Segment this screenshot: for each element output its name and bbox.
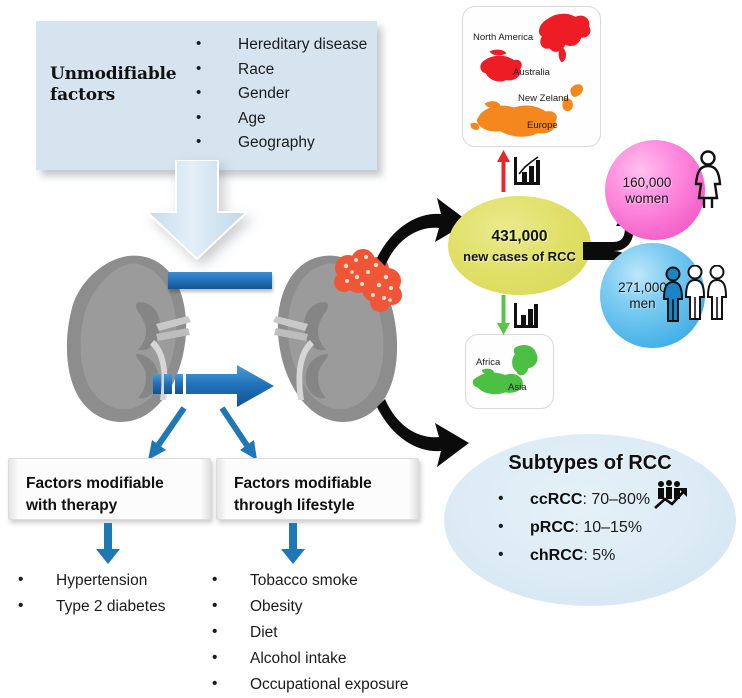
list-item: Occupational exposure	[212, 672, 409, 698]
bar-chart-icon	[513, 301, 539, 329]
unmodifiable-title-line1: Unmodifiable	[50, 64, 176, 84]
women-cases-number: 160,000	[623, 175, 672, 190]
list-item: Hereditary disease	[196, 33, 367, 58]
map-label: Australia	[513, 67, 550, 78]
subtype-sep: :	[583, 547, 592, 564]
blue-bar-icon	[168, 272, 272, 289]
list-item: pRCC: 10–15%	[498, 514, 650, 542]
people-trend-up-icon	[654, 480, 692, 510]
bar-chart-trend-up-icon	[513, 156, 541, 186]
map-label: Asia	[508, 382, 526, 393]
blue-diagonal-arrow-icon	[155, 408, 184, 450]
therapy-title-line2: with therapy	[26, 497, 117, 514]
subtype-name: pRCC	[530, 519, 574, 536]
list-item: ccRCC: 70–80%	[498, 486, 650, 514]
lifestyle-title-line2: through lifestyle	[234, 497, 355, 514]
incidence-increase-indicator	[496, 150, 541, 192]
therapy-box-title: Factors modifiablewith therapy	[26, 473, 198, 517]
map-label: New Zeland	[518, 93, 569, 104]
therapy-risk-list: Hypertension Type 2 diabetes	[18, 568, 165, 620]
down-arrow-icon	[280, 523, 306, 565]
lifestyle-title-line1: Factors modifiable	[234, 475, 372, 492]
subtypes-list: ccRCC: 70–80% pRCC: 10–15% chRCC: 5%	[498, 486, 650, 570]
factors-modifiable-therapy-box: Factors modifiablewith therapy	[8, 458, 211, 520]
subtypes-ellipse: Subtypes of RCC ccRCC: 70–80% pRCC: 10–1…	[444, 434, 736, 606]
list-item: Tobacco smoke	[212, 568, 409, 594]
high-incidence-map-card: North America Australia New Zeland Europ…	[462, 6, 601, 147]
lifestyle-box-title: Factors modifiablethrough lifestyle	[234, 473, 406, 517]
subtype-sep: :	[574, 519, 583, 536]
subtype-value: 5%	[592, 547, 615, 564]
subtype-name: ccRCC	[530, 491, 582, 508]
low-incidence-map-card: Africa Asia	[465, 334, 554, 409]
list-item: Gender	[196, 82, 367, 107]
map-label: Africa	[476, 357, 500, 368]
men-cases-number: 271,000	[618, 280, 667, 295]
list-item: chRCC: 5%	[498, 542, 650, 570]
list-item: Alcohol intake	[212, 646, 409, 672]
list-item: Diet	[212, 620, 409, 646]
world-regions-low-icon	[466, 335, 553, 408]
unmodifiable-factors-list: Hereditary disease Race Gender Age Geogr…	[196, 33, 367, 156]
subtype-value: 70–80%	[591, 491, 650, 508]
list-item: Hypertension	[18, 568, 165, 594]
therapy-title-line1: Factors modifiable	[26, 475, 164, 492]
map-label: North America	[473, 32, 533, 43]
men-figures-icon	[662, 265, 730, 323]
map-label: Europe	[527, 120, 558, 131]
list-item: Age	[196, 107, 367, 132]
factors-modifiable-lifestyle-box: Factors modifiablethrough lifestyle	[216, 458, 419, 520]
new-cases-number: 431,000	[491, 228, 547, 246]
subtype-value: 10–15%	[583, 519, 642, 536]
unmodifiable-title-line2: factors	[50, 85, 115, 105]
unmodifiable-factors-title: Unmodifiable factors	[50, 64, 190, 106]
list-item: Race	[196, 58, 367, 83]
infographic-canvas: Unmodifiable factors Hereditary disease …	[0, 0, 742, 682]
lifestyle-risk-list: Tobacco smoke Obesity Diet Alcohol intak…	[212, 568, 409, 698]
big-down-arrow-icon	[141, 160, 253, 260]
women-cases-label: women	[625, 191, 669, 206]
list-item: Type 2 diabetes	[18, 594, 165, 620]
unmodifiable-factors-panel: Unmodifiable factors Hereditary disease …	[36, 21, 377, 170]
blue-branch-arrows	[100, 402, 305, 464]
incidence-decrease-indicator	[496, 295, 539, 335]
green-down-arrow-icon	[496, 295, 511, 335]
men-cases-label: men	[629, 296, 655, 311]
subtype-name: chRCC	[530, 547, 583, 564]
new-cases-ellipse: 431,000 new cases of RCC	[448, 196, 591, 295]
red-up-arrow-icon	[496, 150, 511, 192]
subtypes-title: Subtypes of RCC	[444, 452, 736, 475]
women-cases-circle: 160,000 women	[605, 140, 705, 240]
woman-figure-icon	[692, 150, 724, 210]
list-item: Geography	[196, 131, 367, 156]
new-cases-label: new cases of RCC	[463, 249, 576, 264]
list-item: Obesity	[212, 594, 409, 620]
down-arrow-icon	[95, 523, 121, 565]
